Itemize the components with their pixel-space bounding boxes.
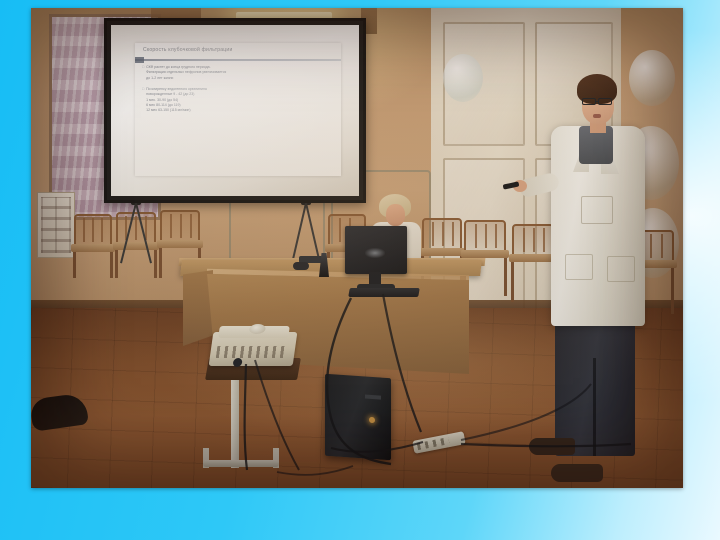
cable-bundle — [31, 8, 683, 488]
presentation-slide-canvas: Скорость клубочковой фильтрации □ СКФ ра… — [0, 0, 720, 540]
lecture-hall-photo[interactable]: Скорость клубочковой фильтрации □ СКФ ра… — [31, 8, 683, 488]
